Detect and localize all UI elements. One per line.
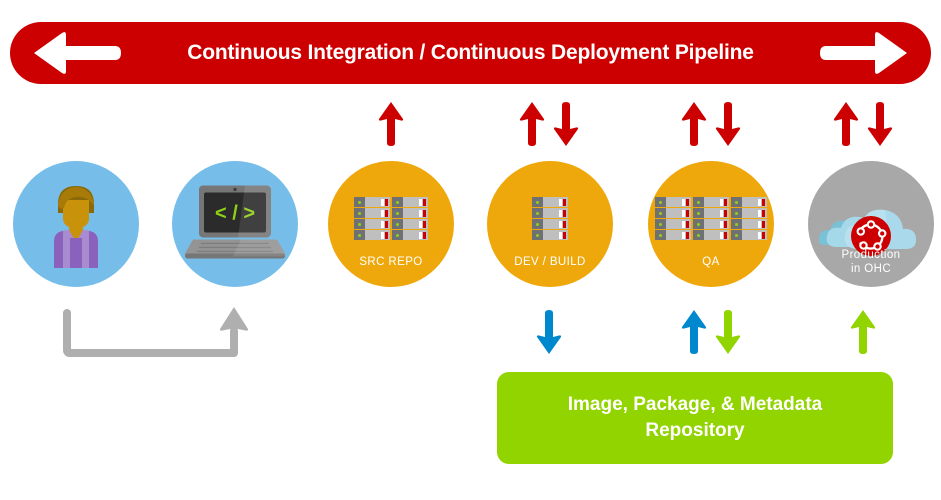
server-rack-icon [655,197,767,240]
repository-label: Image, Package, & Metadata Repository [568,392,823,444]
arrow-down-qa-to-repo [715,310,741,354]
node-dev-build[interactable]: DEV / BUILD [487,161,613,287]
developer-to-workstation-connector [62,305,252,365]
laptop-code-icon: < / > [183,183,287,261]
node-label-dev-build: DEV / BUILD [487,256,613,269]
page-title: Continuous Integration / Continuous Depl… [10,22,931,84]
repository-label-line2: Repository [568,418,823,444]
repository-label-line1: Image, Package, & Metadata [568,392,823,418]
cloud-openshift-icon [819,195,923,257]
server-rack-icon [354,197,428,240]
server-rack-icon [532,197,568,240]
node-label-production-line1: Production [808,249,934,262]
arrow-up-dev-build [519,102,545,146]
node-developer[interactable] [13,161,139,287]
node-src-repo[interactable]: SRC REPO [328,161,454,287]
node-label-qa: QA [648,256,774,269]
arrow-up-src-repo [378,102,404,146]
node-workstation[interactable]: < / > [172,161,298,287]
node-label-src-repo: SRC REPO [328,256,454,269]
node-qa[interactable]: QA [648,161,774,287]
cicd-pipeline-diagram: Continuous Integration / Continuous Depl… [0,0,941,500]
arrow-right-icon [819,31,909,75]
arrow-down-dev-build-to-repo [536,310,562,354]
arrow-down-qa [715,102,741,146]
arrow-up-production [833,102,859,146]
arrow-up-repo-to-qa [681,310,707,354]
arrow-up-qa [681,102,707,146]
arrow-up-repo-to-production [850,310,876,354]
arrow-down-production [867,102,893,146]
arrow-down-dev-build [553,102,579,146]
pipeline-banner: Continuous Integration / Continuous Depl… [10,22,931,84]
node-production[interactable]: Production in OHC [808,161,934,287]
repository-box[interactable]: Image, Package, & Metadata Repository [497,372,893,464]
person-icon [33,180,119,268]
node-label-production-line2: in OHC [808,263,934,276]
